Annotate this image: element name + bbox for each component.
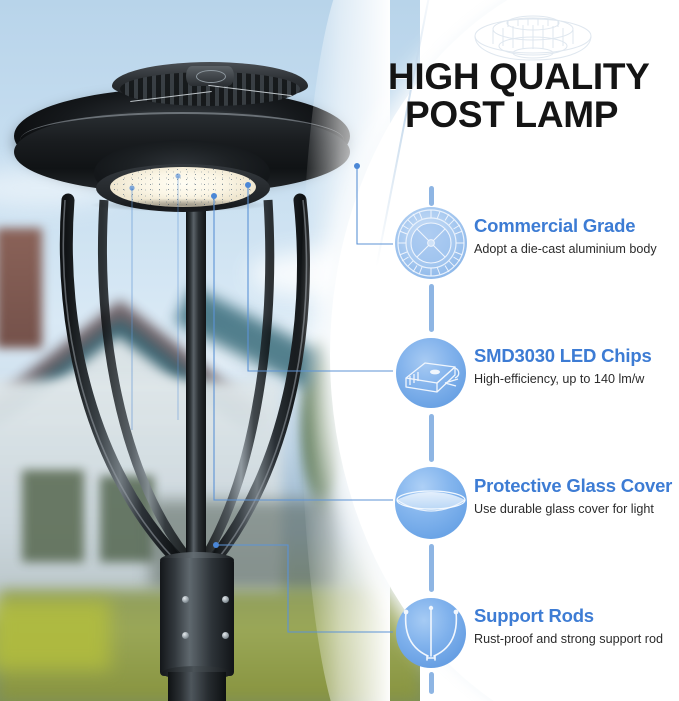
feature-subtitle: Rust-proof and strong support rod	[474, 632, 679, 647]
feature-text: Support Rods Rust-proof and strong suppo…	[474, 606, 679, 647]
feature-text: SMD3030 LED Chips High-efficiency, up to…	[474, 346, 679, 387]
infographic-canvas: HIGH QUALITY POST LAMP	[0, 0, 679, 701]
feature-subtitle: Adopt a die-cast aluminium body	[474, 242, 679, 257]
feature-subtitle: Use durable glass cover for light	[474, 502, 679, 517]
support-rods-icon	[392, 594, 470, 672]
feature-title: SMD3030 LED Chips	[474, 346, 679, 367]
feature-item-commercial-grade[interactable]: Commercial Grade Adopt a die-cast alumin…	[392, 204, 679, 294]
feature-text: Commercial Grade Adopt a die-cast alumin…	[474, 216, 679, 257]
feature-title: Commercial Grade	[474, 216, 679, 237]
feature-title: Protective Glass Cover	[474, 476, 679, 497]
feature-list: Commercial Grade Adopt a die-cast alumin…	[0, 0, 679, 701]
led-chip-module-icon	[392, 334, 470, 412]
feature-item-support-rods[interactable]: Support Rods Rust-proof and strong suppo…	[392, 594, 679, 684]
glass-dome-icon	[392, 464, 470, 542]
heatsink-fins-icon	[392, 204, 470, 282]
feature-item-smd3030-led-chips[interactable]: SMD3030 LED Chips High-efficiency, up to…	[392, 334, 679, 424]
feature-subtitle: High-efficiency, up to 140 lm/w	[474, 372, 679, 387]
feature-text: Protective Glass Cover Use durable glass…	[474, 476, 679, 517]
feature-title: Support Rods	[474, 606, 679, 627]
feature-item-protective-glass-cover[interactable]: Protective Glass Cover Use durable glass…	[392, 464, 679, 554]
